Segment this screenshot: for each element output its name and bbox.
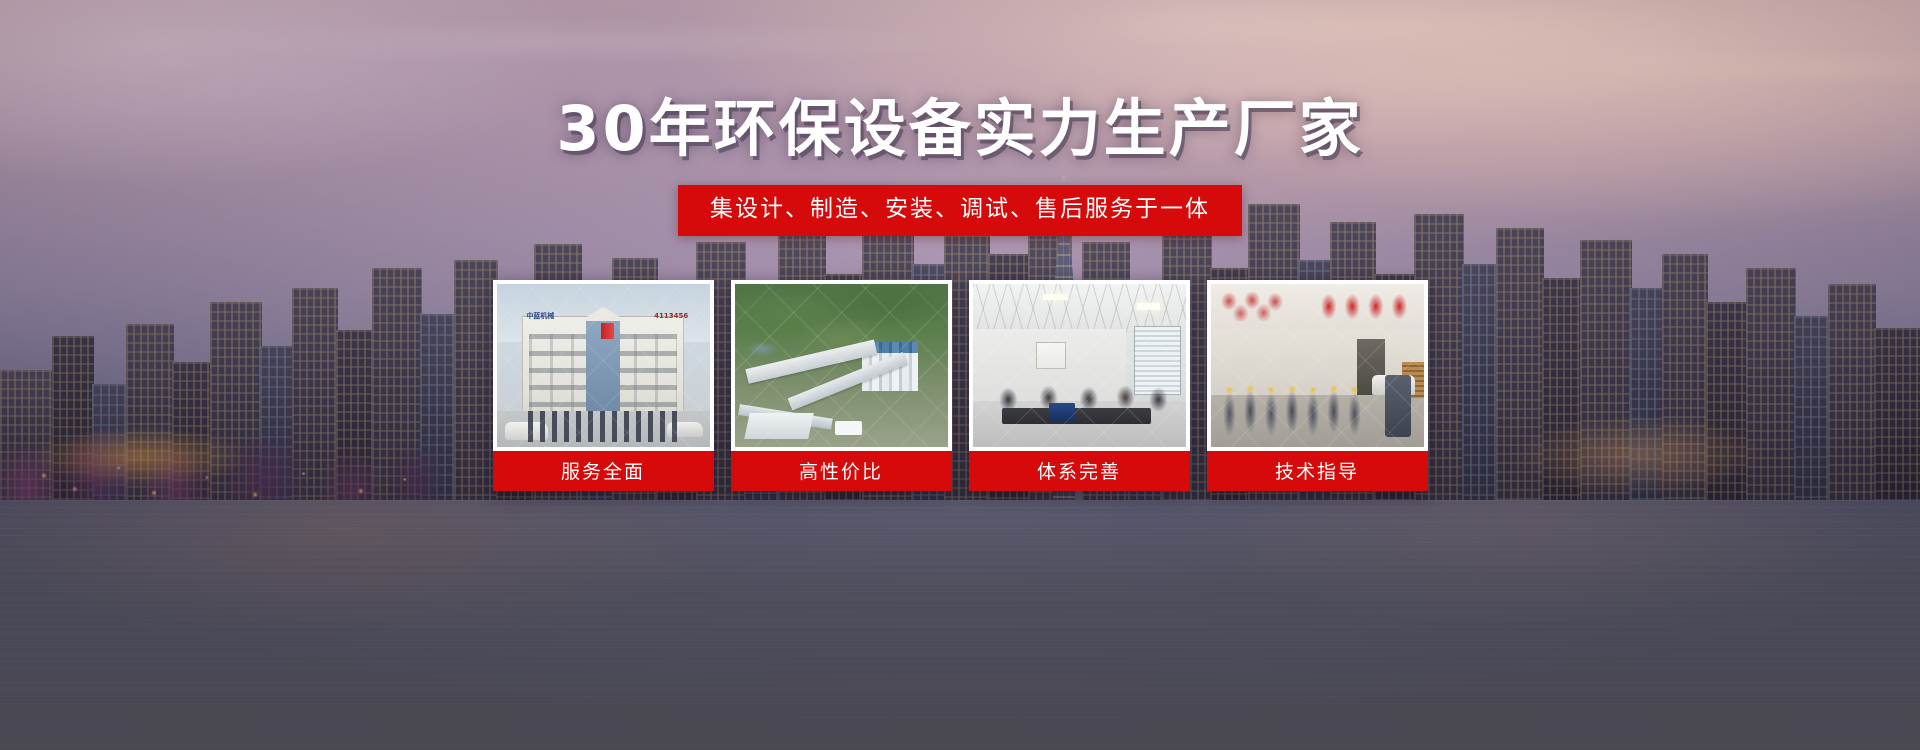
building-company-sign: 中蓝机械 xyxy=(526,310,590,323)
card-caption: 高性价比 xyxy=(731,451,952,491)
card-caption: 服务全面 xyxy=(493,451,714,491)
hero-banner: 30年环保设备实力生产厂家 集设计、制造、安装、调试、售后服务于一体 中蓝机械 … xyxy=(0,0,1920,750)
feature-card[interactable]: 体系完善 xyxy=(969,280,1190,491)
feature-card-list: 中蓝机械 4113456 服务全面 xyxy=(493,280,1428,491)
card-caption: 体系完善 xyxy=(969,451,1190,491)
card-photo-plant-aerial xyxy=(735,284,948,447)
page-title: 30年环保设备实力生产厂家 xyxy=(556,95,1363,163)
building-phone-number: 4113456 xyxy=(616,310,688,323)
feature-card[interactable]: 技术指导 xyxy=(1207,280,1428,491)
card-photo-office-interior xyxy=(973,284,1186,447)
feature-card[interactable]: 高性价比 xyxy=(731,280,952,491)
hero-content: 30年环保设备实力生产厂家 集设计、制造、安装、调试、售后服务于一体 中蓝机械 … xyxy=(0,0,1920,750)
card-photo-office-building: 中蓝机械 4113456 xyxy=(497,284,710,447)
subtitle-banner: 集设计、制造、安装、调试、售后服务于一体 xyxy=(678,185,1242,236)
card-caption: 技术指导 xyxy=(1207,451,1428,491)
card-photo-workshop xyxy=(1211,284,1424,447)
feature-card[interactable]: 中蓝机械 4113456 服务全面 xyxy=(493,280,714,491)
